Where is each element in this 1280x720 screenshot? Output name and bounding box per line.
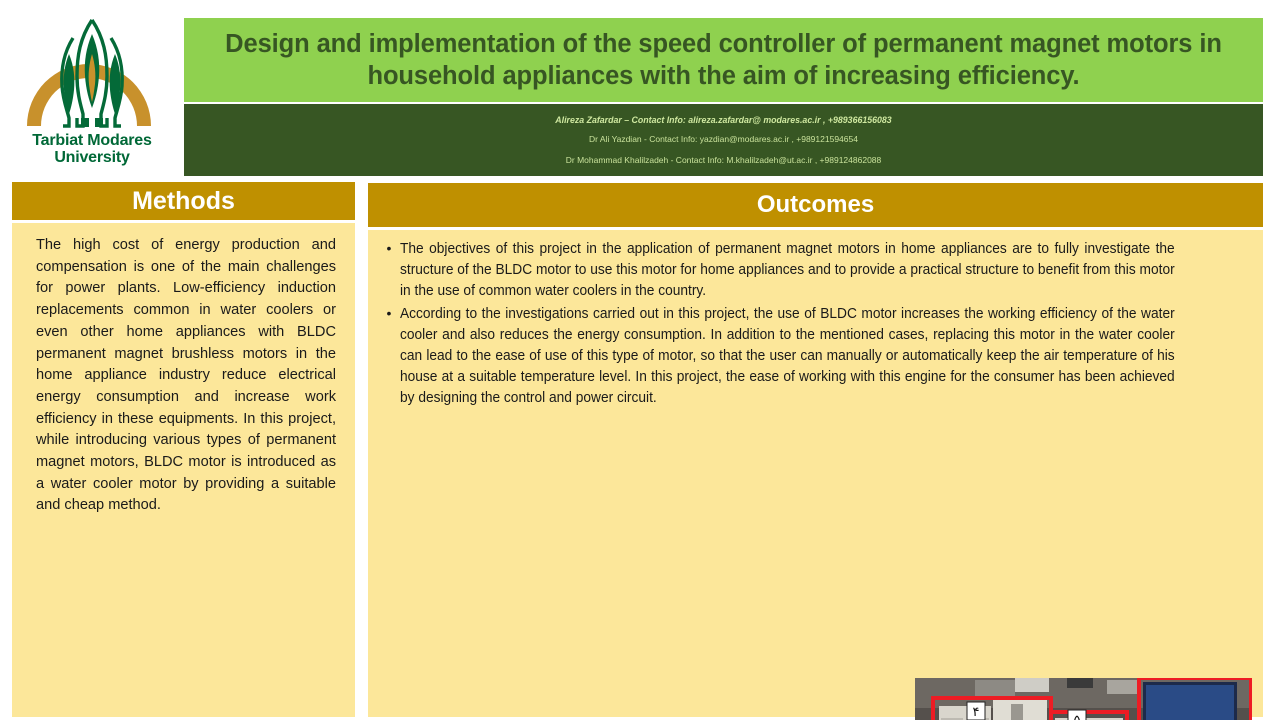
poster-header: Tarbiat Modares University Design and im… bbox=[0, 0, 1280, 180]
methods-title: Methods bbox=[132, 187, 235, 216]
outcome-bullet-1: The objectives of this project in the ap… bbox=[400, 238, 1175, 302]
university-logo: Tarbiat Modares University bbox=[0, 0, 184, 180]
contact-line-author: Alireza Zafardar – Contact Info: alireza… bbox=[184, 115, 1263, 125]
tarbiat-modares-logo-icon bbox=[17, 14, 167, 134]
contact-line-supervisor-1: Dr Ali Yazdian - Contact Info: yazdian@m… bbox=[184, 134, 1263, 144]
methods-body-text: The high cost of energy production and c… bbox=[36, 235, 336, 517]
contact-banner: Alireza Zafardar – Contact Info: alireza… bbox=[184, 104, 1263, 176]
outcomes-title: Outcomes bbox=[757, 191, 874, 219]
list-item: • According to the investigations carrie… bbox=[378, 303, 1256, 409]
test-bench-figure: ۴ ۲ ۳ ۵ ۶ ۱ ۱ - موتورهای کوپلینگ BLDC ۴ … bbox=[915, 678, 1252, 720]
outcomes-bullet-list: • The objectives of this project in the … bbox=[378, 238, 1256, 410]
list-item: • The objectives of this project in the … bbox=[378, 238, 1256, 302]
poster-title-banner: Design and implementation of the speed c… bbox=[184, 18, 1263, 102]
svg-text:۵: ۵ bbox=[1074, 712, 1081, 720]
methods-panel: The high cost of energy production and c… bbox=[12, 223, 355, 717]
poster-title: Design and implementation of the speed c… bbox=[206, 28, 1241, 92]
methods-section-header: Methods bbox=[12, 182, 355, 220]
bullet-icon: • bbox=[378, 238, 400, 302]
test-bench-photo: ۴ ۲ ۳ ۵ ۶ ۱ ۱ - موتورهای کوپلینگ BLDC ۴ … bbox=[915, 678, 1252, 720]
svg-text:۴: ۴ bbox=[973, 704, 980, 719]
logo-wordmark: Tarbiat Modares University bbox=[32, 132, 151, 166]
outcomes-panel: • The objectives of this project in the … bbox=[368, 230, 1263, 717]
contact-line-supervisor-2: Dr Mohammad Khalilzadeh - Contact Info: … bbox=[184, 155, 1263, 165]
outcomes-section-header: Outcomes bbox=[368, 183, 1263, 227]
outcome-bullet-2: According to the investigations carried … bbox=[400, 303, 1175, 409]
bullet-icon: • bbox=[378, 303, 400, 409]
